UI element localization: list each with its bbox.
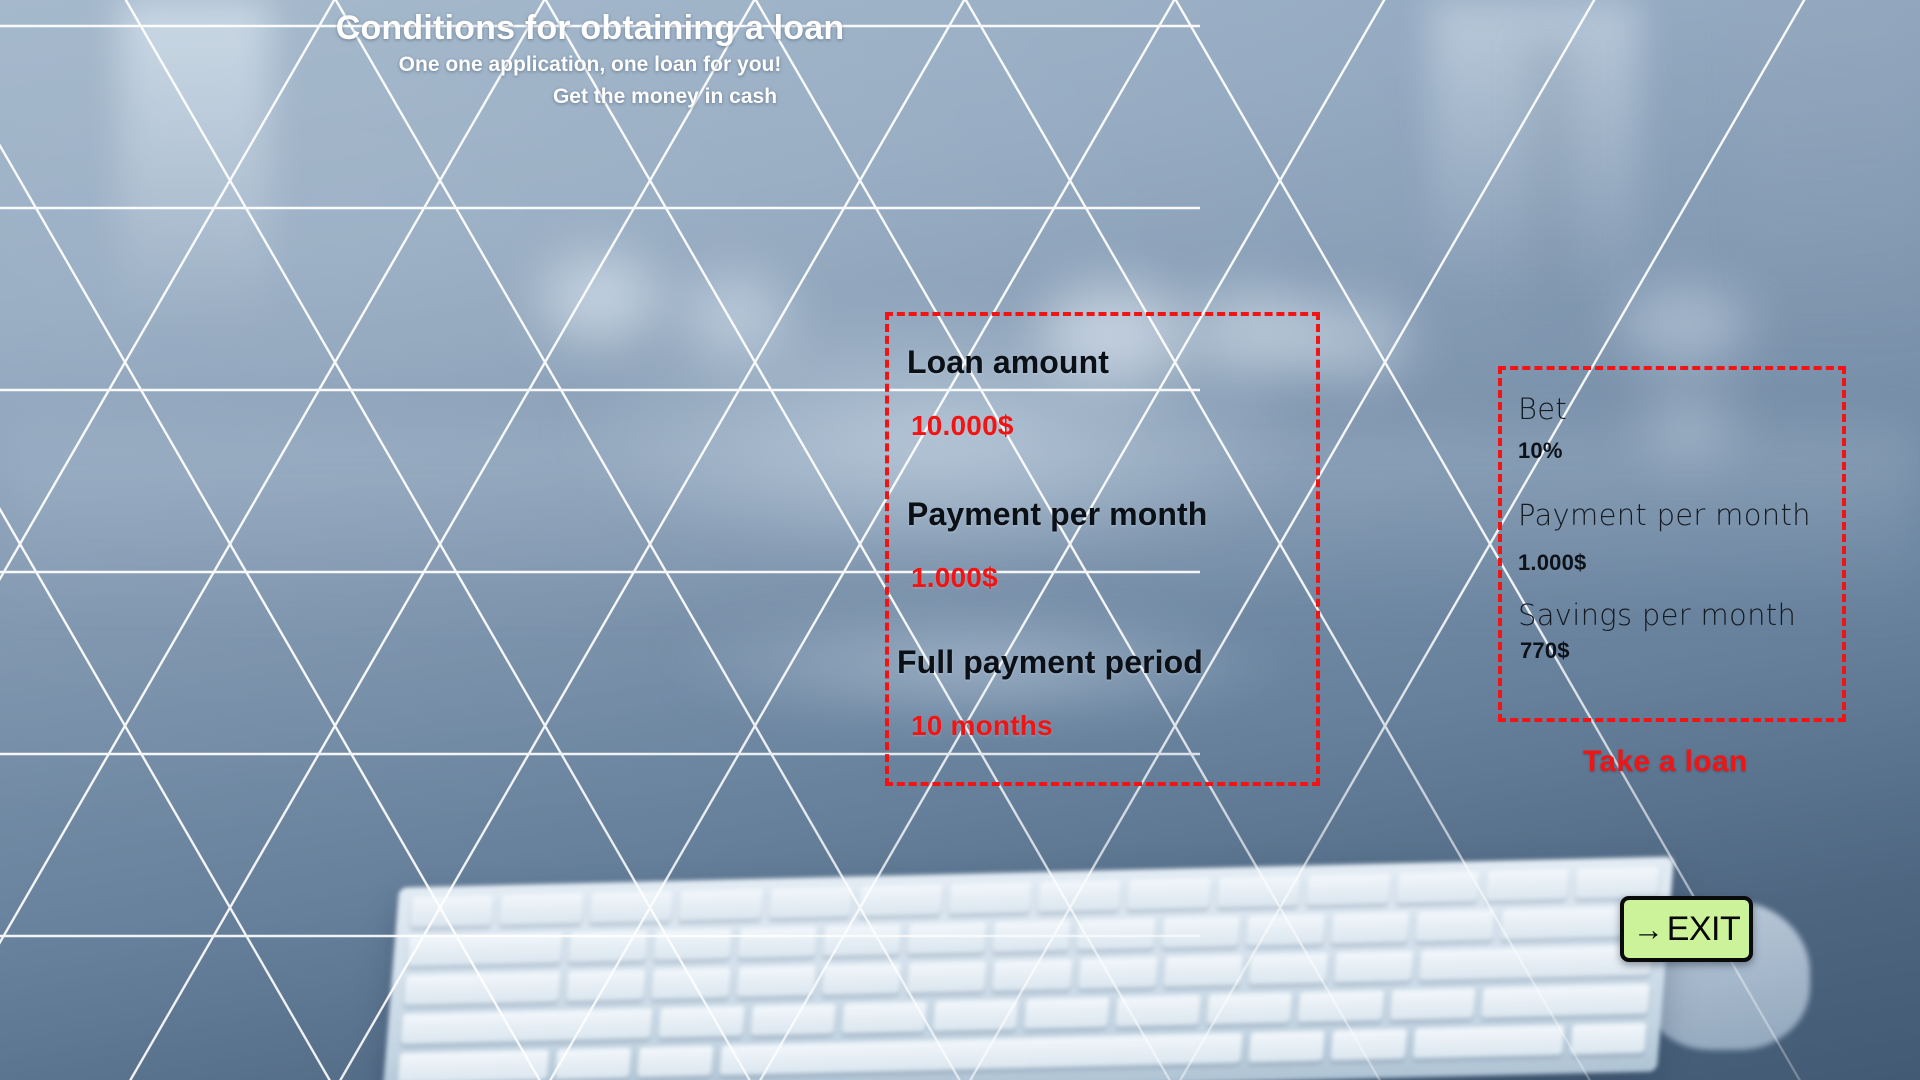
loan-amount-label: Loan amount [907,344,1109,381]
savings-per-month-value: 770$ [1520,638,1570,664]
bet-label: Bet [1518,392,1567,426]
loan-amount-value: 10.000$ [911,410,1014,442]
keyboard-photo [382,856,1674,1080]
loan-summary-panel: Bet 10% Payment per month 1.000$ Savings… [1498,366,1846,722]
payment-per-month-value: 1.000$ [911,562,998,594]
bet-value: 10% [1518,438,1563,464]
exit-button-label: EXIT [1667,912,1741,946]
summary-payment-label: Payment per month [1518,498,1811,532]
exit-arrow-icon: → [1633,914,1664,945]
screen-root: Conditions for obtaining a loan One one … [0,0,1920,1080]
full-payment-period-value: 10 months [911,710,1053,742]
header-block: Conditions for obtaining a loan One one … [0,0,1180,114]
savings-per-month-label: Savings per month [1518,598,1796,632]
background-bokeh [1620,285,1750,365]
payment-per-month-label: Payment per month [907,496,1207,533]
loan-details-panel: Loan amount 10.000$ Payment per month 1.… [885,312,1320,786]
summary-payment-value: 1.000$ [1518,550,1587,576]
background-dark-column [1530,40,1570,300]
background-bokeh [680,275,790,355]
full-payment-period-label: Full payment period [897,644,1203,681]
background-bokeh [540,255,660,340]
page-subtitle-2: Get the money in cash [0,81,1180,114]
background-light-column [1745,0,1920,340]
take-a-loan-button[interactable]: Take a loan [1583,745,1747,779]
page-title: Conditions for obtaining a loan [0,8,1180,49]
exit-button[interactable]: → EXIT [1620,896,1753,962]
page-subtitle-1: One one application, one loan for you! [0,49,1180,82]
